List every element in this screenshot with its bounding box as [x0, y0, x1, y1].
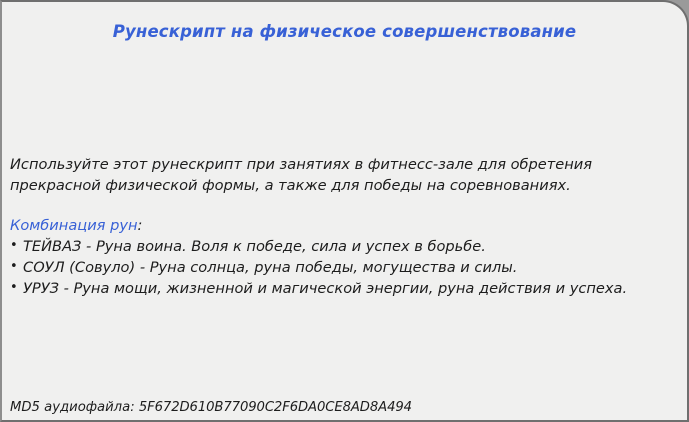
list-item: •СОУЛ (Совуло) - Руна солнца, руна побед… [10, 257, 670, 278]
page-title: Рунескрипт на физическое совершенствован… [2, 22, 687, 41]
intro-line-2: прекрасной физической формы, а также для… [10, 175, 665, 196]
combination-heading-colon: : [138, 217, 143, 234]
md5-label: MD5 аудиофайла: [10, 400, 135, 415]
intro-paragraph: Используйте этот рунескрипт при занятиях… [10, 154, 665, 196]
bullet-icon: • [10, 256, 18, 277]
list-item: •УРУЗ - Руна мощи, жизненной и магическо… [10, 278, 670, 299]
list-item: •ТЕЙВАЗ - Руна воина. Воля к победе, сил… [10, 236, 670, 257]
md5-footer: MD5 аудиофайла: 5F672D610B77090C2F6DA0CE… [10, 400, 412, 415]
bullet-icon: • [10, 277, 18, 298]
panel-inner: Рунескрипт на физическое совершенствован… [2, 2, 687, 420]
list-item-text: УРУЗ - Руна мощи, жизненной и магической… [23, 280, 627, 297]
combination-heading-label: Комбинация рун [10, 217, 138, 234]
md5-value: 5F672D610B77090C2F6DA0CE8AD8A494 [139, 400, 412, 415]
rune-script-panel: Рунескрипт на физическое совершенствован… [0, 0, 689, 422]
list-item-text: СОУЛ (Совуло) - Руна солнца, руна победы… [23, 259, 517, 276]
bullet-icon: • [10, 235, 18, 256]
runes-list: •ТЕЙВАЗ - Руна воина. Воля к победе, сил… [10, 236, 670, 299]
combination-heading: Комбинация рун: [10, 216, 142, 236]
list-item-text: ТЕЙВАЗ - Руна воина. Воля к победе, сила… [23, 238, 486, 255]
intro-line-1: Используйте этот рунескрипт при занятиях… [10, 154, 665, 175]
